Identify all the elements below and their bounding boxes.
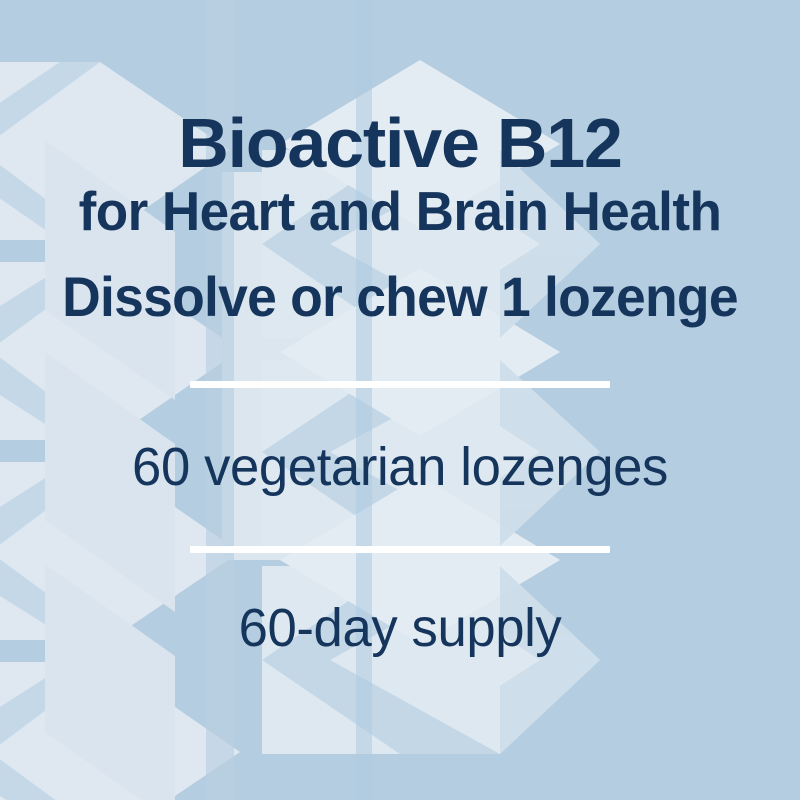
- count-text: 60 vegetarian lozenges: [10, 440, 790, 494]
- product-callout-graphic: Bioactive B12 for Heart and Brain Health…: [0, 0, 800, 800]
- page-title: Bioactive B12: [0, 108, 800, 178]
- divider-1: [190, 381, 610, 388]
- callout-text-stack: Bioactive B12 for Heart and Brain Health…: [0, 0, 800, 800]
- supply-text: 60-day supply: [10, 601, 790, 655]
- divider-2: [190, 546, 610, 553]
- subtitle: for Heart and Brain Health: [14, 184, 786, 239]
- instruction-text: Dissolve or chew 1 lozenge: [18, 269, 782, 325]
